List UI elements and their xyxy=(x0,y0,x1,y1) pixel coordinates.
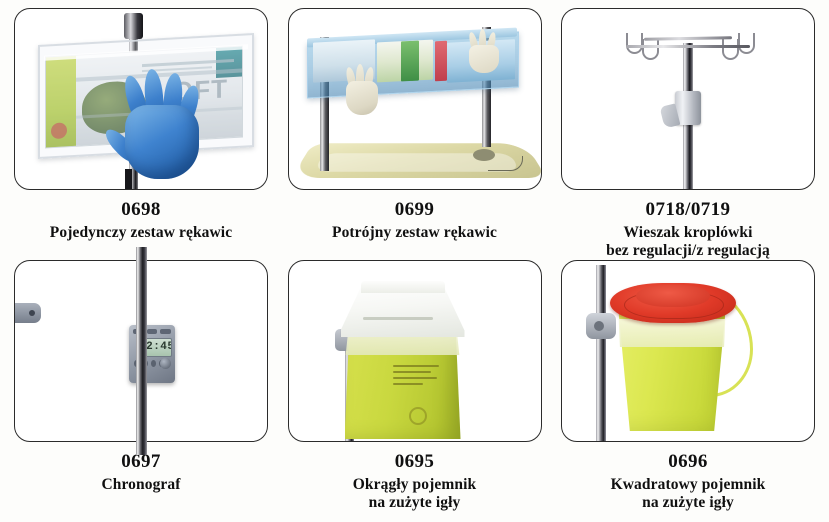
product-name-line: na zużyte igły xyxy=(288,494,542,512)
iv-crossbar-icon xyxy=(626,45,750,48)
white-glove-icon xyxy=(465,31,505,75)
product-photo-0695[interactable] xyxy=(288,260,542,442)
catalog-row-top: OFT 0698 Pojedynczy zestaw rękawic xyxy=(14,8,815,260)
product-name-line: na zużyte igły xyxy=(561,494,815,512)
biohazard-symbol-icon xyxy=(409,407,427,425)
warning-label-icon xyxy=(393,365,443,407)
product-cell-0718-0719[interactable]: 0718/0719 Wieszak kroplówki bez regulacj… xyxy=(561,8,815,260)
product-name: Okrągły pojemnik na zużyte igły xyxy=(288,476,542,512)
product-code: 0699 xyxy=(288,199,542,221)
product-name-line: Potrójny zestaw rękawic xyxy=(288,224,542,242)
catalog-row-bottom: 12:45 0697 Chronograf xyxy=(14,260,815,518)
product-photo-0699[interactable] xyxy=(288,8,542,190)
device-knob-icon xyxy=(160,358,171,369)
pole-icon xyxy=(136,247,147,455)
product-code: 0696 xyxy=(561,451,815,473)
iv-hook-icon xyxy=(626,33,643,54)
cord-icon xyxy=(488,156,523,171)
photo-clip-0696 xyxy=(562,261,814,441)
glove-box-accent-icon xyxy=(435,41,447,82)
product-name-line: Wieszak kroplówki xyxy=(561,224,815,242)
product-name-line: Chronograf xyxy=(14,476,268,494)
lid-slot-icon xyxy=(363,317,433,320)
product-caption-0699: 0699 Potrójny zestaw rękawic xyxy=(288,199,542,242)
product-cell-0699[interactable]: 0699 Potrójny zestaw rękawic xyxy=(288,8,542,260)
photo-clip-0695 xyxy=(289,261,541,441)
pole-cap-icon xyxy=(124,13,143,39)
photo-clip-0698: OFT xyxy=(15,9,267,189)
white-glove-icon xyxy=(341,65,383,117)
product-caption-0695: 0695 Okrągły pojemnik na zużyte igły xyxy=(288,451,542,512)
product-cell-0696[interactable]: 0696 Kwadratowy pojemnik na zużyte igły xyxy=(561,260,815,518)
product-name-line: bez regulacji/z regulacją xyxy=(561,242,815,260)
product-name: Potrójny zestaw rękawic xyxy=(288,224,542,242)
product-name: Chronograf xyxy=(14,476,268,494)
mounting-bracket-icon xyxy=(15,303,41,323)
product-caption-0697: 0697 Chronograf xyxy=(14,451,268,494)
product-photo-0698[interactable]: OFT xyxy=(14,8,268,190)
iv-hook-icon xyxy=(722,39,739,60)
product-cell-0695[interactable]: 0695 Okrągły pojemnik na zużyte igły xyxy=(288,260,542,518)
iv-hook-icon xyxy=(738,33,755,54)
product-cell-0698[interactable]: OFT 0698 Pojedynczy zestaw rękawic xyxy=(14,8,268,260)
product-catalog: OFT 0698 Pojedynczy zestaw rękawic xyxy=(0,0,829,522)
lid-inner-icon xyxy=(636,285,710,307)
product-name: Kwadratowy pojemnik na zużyte igły xyxy=(561,476,815,512)
product-name-line: Kwadratowy pojemnik xyxy=(561,476,815,494)
pole-icon xyxy=(596,265,606,441)
iv-crossbar-icon xyxy=(644,36,732,41)
product-name: Pojedynczy zestaw rękawic xyxy=(14,224,268,242)
container-ring-icon xyxy=(610,319,734,347)
photo-clip-0699 xyxy=(289,9,541,189)
product-name: Wieszak kroplówki bez regulacji/z regula… xyxy=(561,224,815,260)
product-code: 0698 xyxy=(14,199,268,221)
glove-box-accent-icon xyxy=(401,41,419,82)
product-photo-0696[interactable] xyxy=(561,260,815,442)
container-lid-top-icon xyxy=(361,281,445,293)
blue-glove-icon xyxy=(111,71,215,189)
product-photo-0718-0719[interactable] xyxy=(561,8,815,190)
product-name-line: Pojedynczy zestaw rękawic xyxy=(14,224,268,242)
container-clamp-icon xyxy=(586,313,616,339)
product-code: 0695 xyxy=(288,451,542,473)
iv-hook-icon xyxy=(642,39,659,60)
product-caption-0718-0719: 0718/0719 Wieszak kroplówki bez regulacj… xyxy=(561,199,815,260)
product-cell-0697[interactable]: 12:45 0697 Chronograf xyxy=(14,260,268,518)
product-photo-0697[interactable]: 12:45 xyxy=(14,260,268,442)
product-caption-0696: 0696 Kwadratowy pojemnik na zużyte igły xyxy=(561,451,815,512)
photo-clip-0718 xyxy=(562,9,814,189)
product-code: 0718/0719 xyxy=(561,199,815,221)
product-caption-0698: 0698 Pojedynczy zestaw rękawic xyxy=(14,199,268,242)
product-name-line: Okrągły pojemnik xyxy=(288,476,542,494)
